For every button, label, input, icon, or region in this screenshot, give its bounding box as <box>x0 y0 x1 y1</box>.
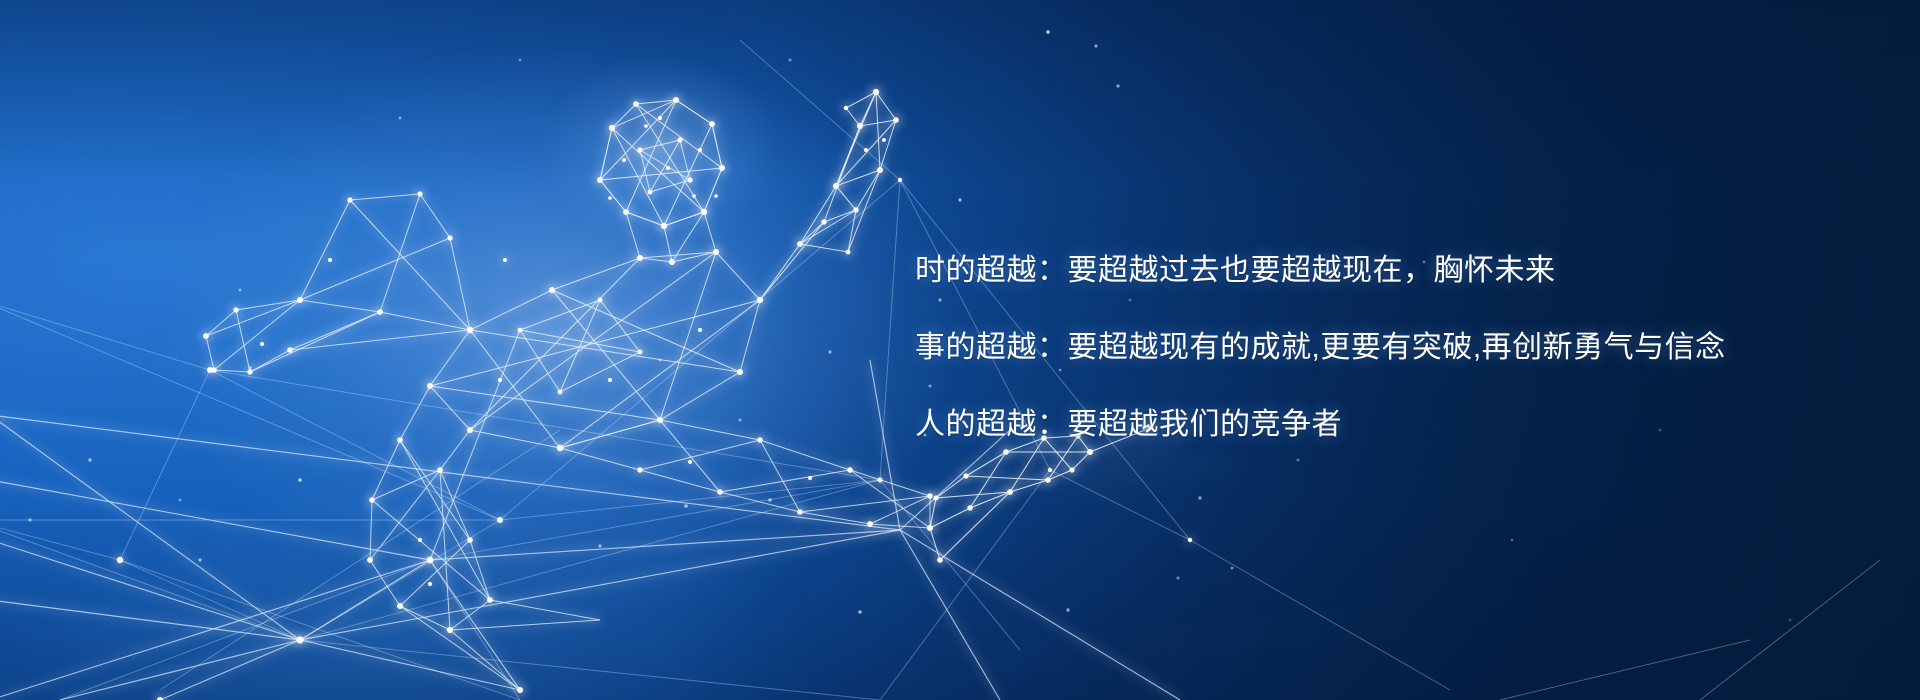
slogan-text-block: 时的超越：要超越过去也要超越现在，胸怀未来 事的超越：要超越现有的成就,更要有突… <box>915 232 1875 463</box>
hero-banner: 时的超越：要超越过去也要超越现在，胸怀未来 事的超越：要超越现有的成就,更要有突… <box>0 0 1920 700</box>
slogan-line-1: 时的超越：要超越过去也要超越现在，胸怀未来 <box>915 232 1875 309</box>
slogan-line-2: 事的超越：要超越现有的成就,更要有突破,再创新勇气与信念 <box>915 309 1875 386</box>
slogan-line-3: 人的超越：要超越我们的竞争者 <box>915 386 1875 463</box>
